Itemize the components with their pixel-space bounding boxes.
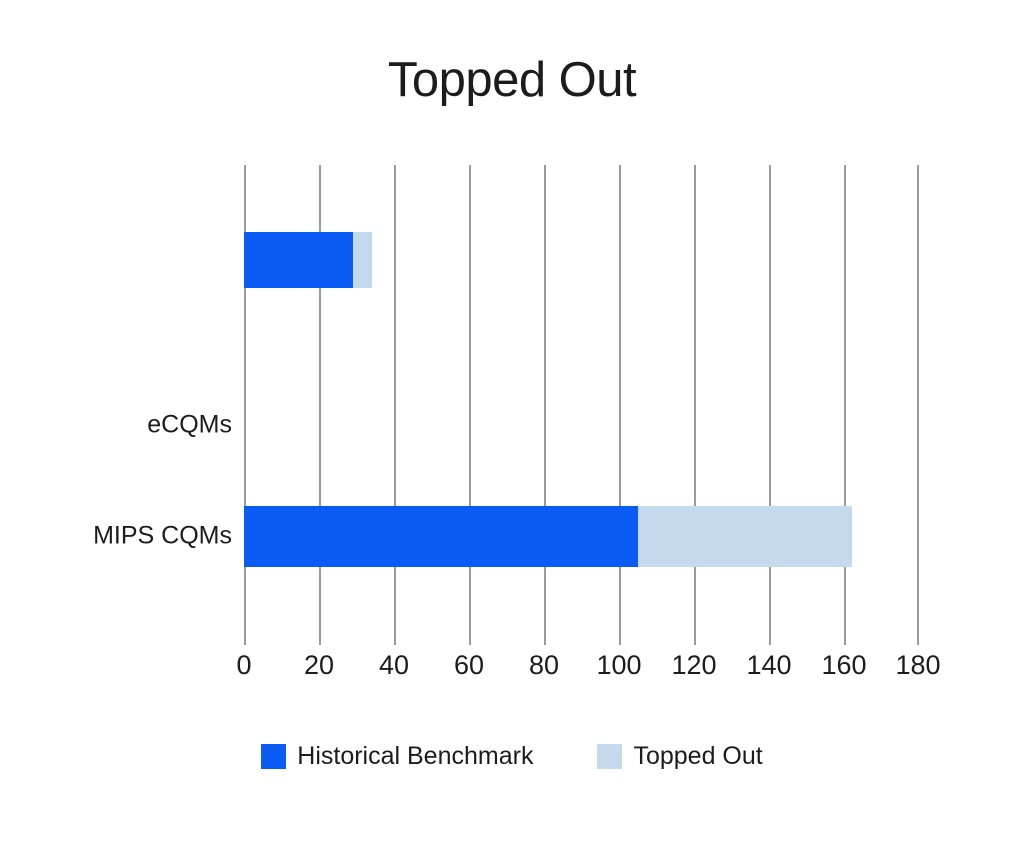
bar-row-ecqms[interactable] [244, 232, 372, 288]
x-tick-label-160: 160 [821, 652, 866, 679]
x-tick-label-0: 0 [236, 652, 251, 679]
category-label-mips-cqms: MIPS CQMs [0, 522, 232, 551]
x-tick-label-180: 180 [895, 652, 940, 679]
gridline-60 [469, 165, 471, 645]
chart-title: Topped Out [0, 56, 1024, 105]
gridline-100 [619, 165, 621, 645]
x-tick-label-80: 80 [529, 652, 559, 679]
legend-swatch-icon-historical-benchmark [261, 744, 286, 769]
category-axis: eCQMs MIPS CQMs [0, 165, 232, 645]
legend-swatch-icon-topped-out [597, 744, 622, 769]
gridline-160 [844, 165, 846, 645]
plot-area [244, 165, 919, 645]
bar-segment-historical-benchmark-ecqms[interactable] [244, 232, 353, 288]
x-tick-label-20: 20 [304, 652, 334, 679]
legend-item-topped-out[interactable]: Topped Out [597, 744, 762, 769]
x-axis-tick-labels: 0 20 40 60 80 100 120 140 160 180 [244, 652, 919, 692]
bar-row-mips-cqms[interactable] [244, 506, 852, 567]
legend-item-historical-benchmark[interactable]: Historical Benchmark [261, 744, 533, 769]
gridline-120 [694, 165, 696, 645]
legend-label-historical-benchmark: Historical Benchmark [297, 744, 533, 769]
x-tick-label-100: 100 [596, 652, 641, 679]
chart-legend: Historical Benchmark Topped Out [0, 744, 1024, 769]
category-label-ecqms: eCQMs [0, 411, 232, 440]
gridline-40 [394, 165, 396, 645]
bar-segment-topped-out-ecqms[interactable] [353, 232, 372, 288]
x-tick-label-140: 140 [746, 652, 791, 679]
chart-container: Topped Out eCQMs MIPS CQMs 0 20 40 60 80… [0, 0, 1024, 858]
x-tick-label-60: 60 [454, 652, 484, 679]
bar-segment-historical-benchmark-mips-cqms[interactable] [244, 506, 638, 567]
gridline-180 [917, 165, 919, 645]
x-tick-label-40: 40 [379, 652, 409, 679]
gridline-140 [769, 165, 771, 645]
x-tick-label-120: 120 [671, 652, 716, 679]
legend-label-topped-out: Topped Out [633, 744, 762, 769]
bar-segment-topped-out-mips-cqms[interactable] [638, 506, 852, 567]
gridline-80 [544, 165, 546, 645]
